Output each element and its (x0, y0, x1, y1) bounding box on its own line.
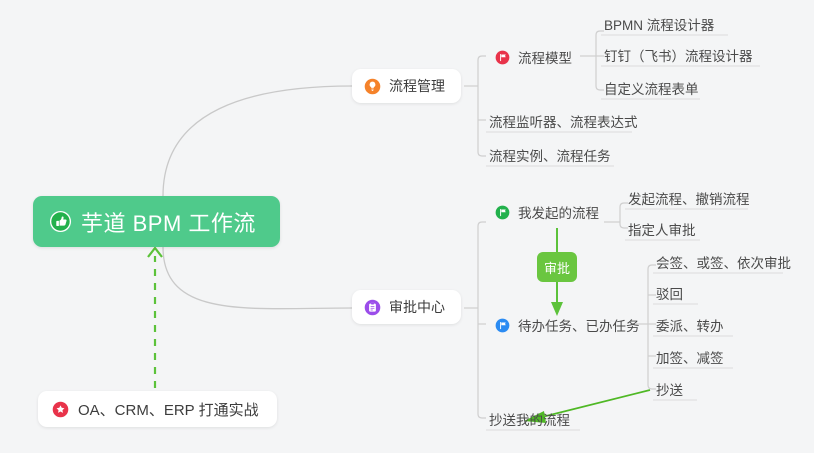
clipboard-purple-icon (364, 299, 381, 316)
branch-node-approval-center[interactable]: 审批中心 (352, 290, 461, 324)
flag-green-icon (495, 205, 510, 220)
root-node[interactable]: 芋道 BPM 工作流 (33, 196, 280, 247)
edge-process-management-spine (478, 56, 486, 156)
leaf-bpmn-designer[interactable]: BPMN 流程设计器 (604, 11, 714, 37)
leaf-label: 发起流程、撤销流程 (628, 188, 750, 208)
node-label: 我发起的流程 (518, 202, 599, 222)
edge-my-processes-spine (620, 203, 628, 228)
bottom-note-label: OA、CRM、ERP 打通实战 (78, 399, 259, 420)
root-node-label: 芋道 BPM 工作流 (81, 206, 256, 238)
mindmap-canvas: 芋道 BPM 工作流 流程管理 流程模型 BPMN 流程设计器 钉钉（飞书）流程… (0, 0, 814, 453)
leaf-add-remove-sign[interactable]: 加签、减签 (656, 344, 724, 370)
edge-process-model-spine (596, 31, 604, 90)
leaf-instance-task[interactable]: 流程实例、流程任务 (489, 142, 611, 168)
branch-node-label: 流程管理 (389, 76, 445, 96)
leaf-label: 钉钉（飞书）流程设计器 (604, 45, 753, 65)
leaf-delegate-transfer[interactable]: 委派、转办 (656, 312, 724, 338)
leaf-label: 指定人审批 (628, 219, 696, 239)
star-icon (52, 401, 69, 418)
flag-blue-icon (495, 318, 510, 333)
edge-approval-center-spine (478, 222, 486, 418)
lightbulb-icon (364, 78, 381, 95)
leaf-label: 委派、转办 (656, 315, 724, 335)
leaf-label: BPMN 流程设计器 (604, 14, 714, 34)
branch-node-label: 审批中心 (389, 297, 445, 317)
bottom-note-arrowhead-icon (148, 248, 162, 257)
leaf-custom-form[interactable]: 自定义流程表单 (604, 75, 699, 101)
flag-red-icon (495, 50, 510, 65)
leaf-start-cancel-process[interactable]: 发起流程、撤销流程 (628, 185, 750, 211)
node-my-processes[interactable]: 我发起的流程 (495, 199, 599, 225)
node-label: 流程模型 (518, 47, 572, 67)
leaf-label: 抄送我的流程 (489, 409, 570, 429)
edge-todo-tasks-spine (648, 265, 656, 389)
node-todo-tasks[interactable]: 待办任务、已办任务 (495, 312, 640, 338)
leaf-dingtalk-designer[interactable]: 钉钉（飞书）流程设计器 (604, 42, 753, 68)
leaf-label: 流程监听器、流程表达式 (489, 111, 638, 131)
thumbs-up-icon (49, 210, 72, 233)
leaf-countersign[interactable]: 会签、或签、依次审批 (656, 249, 791, 275)
leaf-reject[interactable]: 驳回 (656, 280, 683, 306)
leaf-listener-expression[interactable]: 流程监听器、流程表达式 (489, 108, 638, 134)
approval-tag[interactable]: 审批 (537, 252, 577, 282)
branch-node-process-management[interactable]: 流程管理 (352, 69, 461, 103)
leaf-cc-my-processes[interactable]: 抄送我的流程 (489, 406, 570, 432)
leaf-cc[interactable]: 抄送 (656, 376, 683, 402)
leaf-label: 流程实例、流程任务 (489, 145, 611, 165)
leaf-label: 驳回 (656, 283, 683, 303)
leaf-label: 加签、减签 (656, 347, 724, 367)
bottom-note-node[interactable]: OA、CRM、ERP 打通实战 (38, 391, 277, 427)
edge-root-to-process-management (163, 86, 352, 196)
edge-root-to-approval-center (163, 247, 352, 309)
leaf-label: 自定义流程表单 (604, 78, 699, 98)
leaf-label: 抄送 (656, 379, 683, 399)
node-process-model[interactable]: 流程模型 (495, 44, 572, 70)
leaf-label: 会签、或签、依次审批 (656, 252, 791, 272)
node-label: 待办任务、已办任务 (518, 315, 640, 335)
leaf-assigned-approval[interactable]: 指定人审批 (628, 216, 696, 242)
approval-tag-label: 审批 (544, 258, 570, 277)
